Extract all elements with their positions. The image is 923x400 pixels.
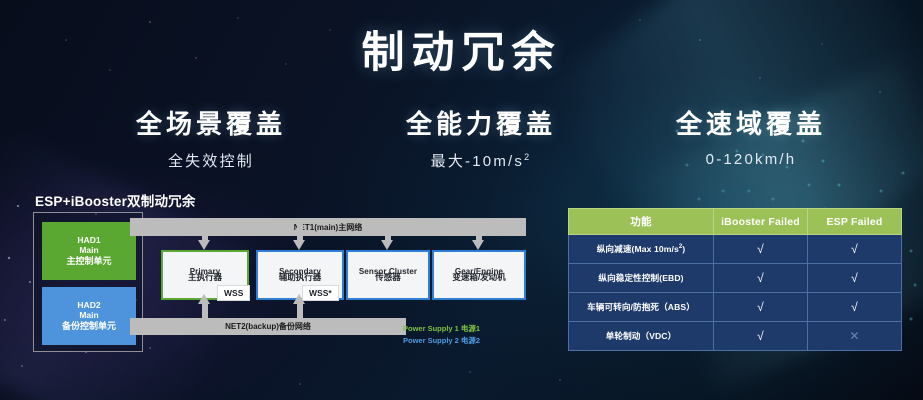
ecu-had2-cn: 备份控制单元	[62, 321, 116, 332]
ecu-had1-en: HAD1	[77, 235, 100, 245]
feature-row: 全场景覆盖 全失效控制 全能力覆盖 最大-10m/s2 全速域覆盖 0-120k…	[86, 104, 876, 171]
table-cell-esp: √	[808, 235, 902, 264]
ecu-had2-en2: Main	[79, 310, 98, 320]
table-cell-esp: ✕	[808, 322, 902, 351]
check-icon: √	[757, 329, 764, 343]
table-cell-ibooster: √	[714, 293, 808, 322]
wss-tag-primary: WSS	[217, 285, 250, 301]
table-cell-function: 单轮制动（VDC）	[569, 322, 714, 351]
arrow-down-icon	[381, 224, 394, 250]
function-text: 纵向减速(Max 10m/s	[597, 244, 679, 254]
table-cell-function: 纵向稳定性控制(EBD)	[569, 264, 714, 293]
feature-title: 全能力覆盖	[356, 104, 606, 141]
unit-sensor-cn: 传感器	[375, 273, 401, 282]
unit-gear-engine: Gear/Engine 变速箱/发动机	[432, 250, 526, 300]
ecu-had1-main: HAD1 Main 主控制单元	[42, 222, 136, 280]
feature-subtitle-sup: 2	[524, 152, 531, 162]
check-icon: √	[851, 242, 858, 256]
feature-subtitle-text: 全失效控制	[168, 153, 254, 170]
unit-secondary-cn: 辅助执行器	[279, 273, 322, 282]
table-cell-function: 车辆可转向/防抱死（ABS）	[569, 293, 714, 322]
check-icon: √	[757, 300, 764, 314]
table-header-esp-failed: ESP Failed	[808, 209, 902, 235]
ecu-had1-en2: Main	[79, 245, 98, 255]
feature-capability-coverage: 全能力覆盖 最大-10m/s2	[356, 104, 606, 171]
arrow-down-icon	[293, 224, 306, 250]
table-header-ibooster-failed: iBooster Failed	[714, 209, 808, 235]
feature-subtitle: 最大-10m/s2	[356, 150, 606, 171]
ecu-had2-en: HAD2	[77, 300, 100, 310]
function-text: 单轮制动（VDC）	[606, 331, 677, 341]
feature-title: 全速域覆盖	[626, 104, 876, 141]
power-supply-1-label: Power Supply 1 电源1	[403, 323, 480, 335]
table-cell-function: 纵向减速(Max 10m/s2)	[569, 235, 714, 264]
page-title: 制动冗余	[0, 18, 923, 80]
diagram-title: ESP+iBooster双制动冗余	[35, 190, 196, 210]
check-icon: √	[757, 271, 764, 285]
feature-subtitle-text: 0-120km/h	[706, 151, 797, 168]
architecture-diagram: ESP+iBooster双制动冗余 HAD1 Main 主控制单元 HAD2 M…	[18, 190, 542, 370]
power-supply-legend: Power Supply 1 电源1 Power Supply 2 电源2	[403, 323, 480, 346]
check-icon: √	[757, 242, 764, 256]
table-row: 车辆可转向/防抱死（ABS） √ √	[569, 293, 902, 322]
capability-table: 功能 iBooster Failed ESP Failed 纵向减速(Max 1…	[568, 208, 902, 351]
table-cell-esp: √	[808, 293, 902, 322]
table-row: 纵向稳定性控制(EBD) √ √	[569, 264, 902, 293]
arrow-down-icon	[472, 224, 485, 250]
feature-scene-coverage: 全场景覆盖 全失效控制	[86, 104, 336, 171]
table-header-function: 功能	[569, 209, 714, 235]
arrow-up-icon	[198, 294, 211, 320]
table-cell-ibooster: √	[714, 264, 808, 293]
table-cell-ibooster: √	[714, 235, 808, 264]
check-icon: √	[851, 271, 858, 285]
ecu-had1-cn: 主控制单元	[66, 256, 111, 267]
power-supply-2-label: Power Supply 2 电源2	[403, 335, 480, 347]
check-icon: √	[851, 300, 858, 314]
table-cell-esp: √	[808, 264, 902, 293]
table-row: 纵向减速(Max 10m/s2) √ √	[569, 235, 902, 264]
slide-canvas: 制动冗余 全场景覆盖 全失效控制 全能力覆盖 最大-10m/s2 全速域覆盖 0…	[0, 0, 923, 400]
unit-gear-cn: 变速箱/发动机	[452, 273, 505, 282]
ecu-group: HAD1 Main 主控制单元 HAD2 Main 备份控制单元	[33, 212, 143, 352]
wss-tag-secondary: WSS*	[302, 285, 339, 301]
bus-net1-label: NET1(main)主网络	[130, 218, 526, 236]
feature-subtitle: 0-120km/h	[626, 150, 876, 168]
ecu-had2-main: HAD2 Main 备份控制单元	[42, 287, 136, 345]
feature-speed-coverage: 全速域覆盖 0-120km/h	[626, 104, 876, 171]
bus-net2-label: NET2(backup)备份网络	[130, 318, 406, 335]
feature-title: 全场景覆盖	[86, 104, 336, 141]
feature-subtitle: 全失效控制	[86, 150, 336, 171]
cross-icon: ✕	[849, 329, 859, 343]
function-tail: )	[682, 244, 685, 254]
feature-subtitle-text: 最大-10m/s	[431, 153, 524, 170]
function-text: 纵向稳定性控制(EBD)	[598, 273, 683, 283]
function-text: 车辆可转向/防抱死（ABS）	[587, 302, 695, 312]
table-row: 单轮制动（VDC） √ ✕	[569, 322, 902, 351]
arrow-up-icon	[293, 294, 306, 320]
unit-sensor-cluster: Sensor Cluster 传感器	[346, 250, 430, 300]
arrow-down-icon	[198, 224, 211, 250]
table-cell-ibooster: √	[714, 322, 808, 351]
table-header-row: 功能 iBooster Failed ESP Failed	[569, 209, 902, 235]
unit-primary-cn: 主执行器	[188, 273, 222, 282]
